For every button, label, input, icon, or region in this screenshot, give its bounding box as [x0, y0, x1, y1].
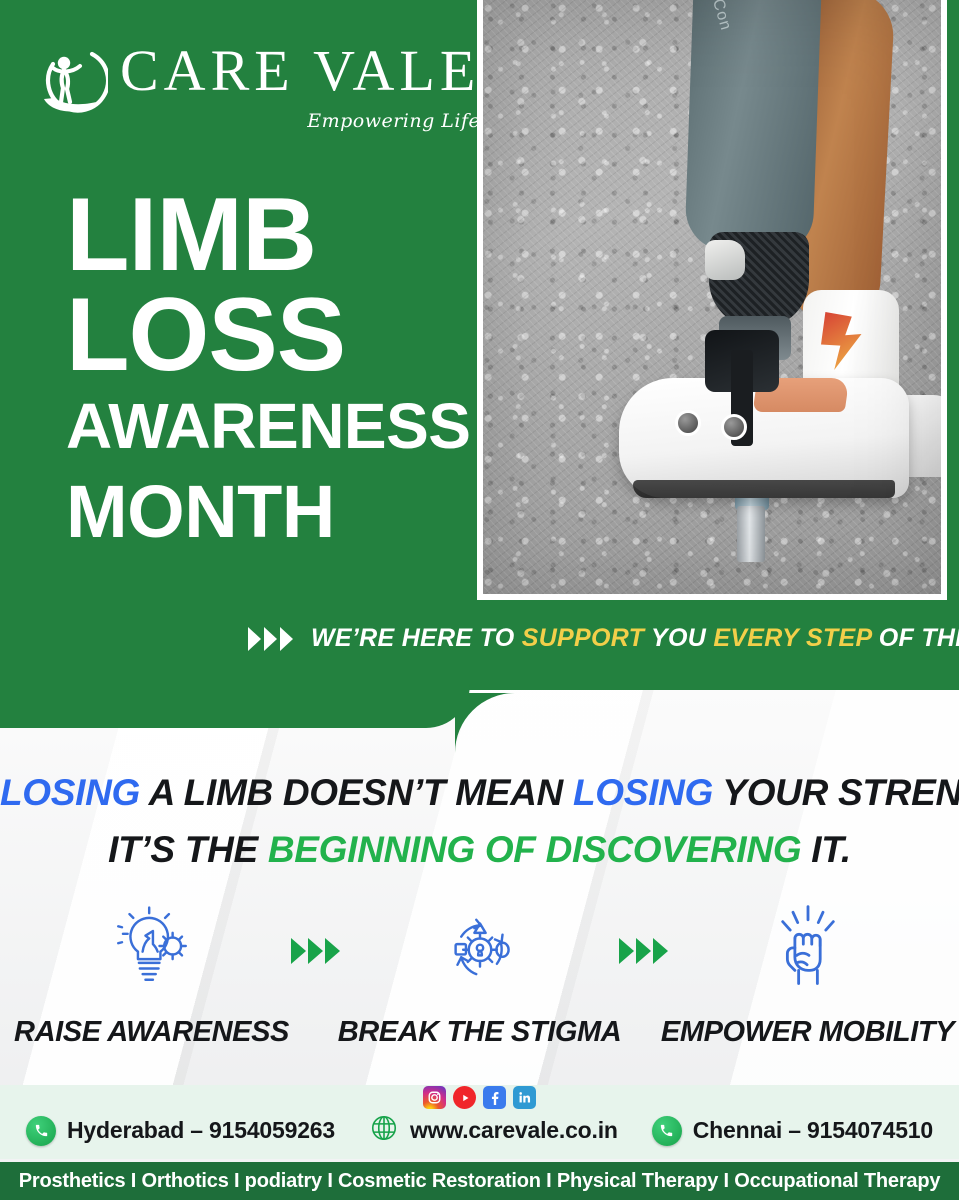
step-break-the-stigma: BREAK THE STIGMA: [355, 898, 605, 1049]
headline-text-4: IT.: [801, 829, 851, 870]
social-links: [0, 1086, 959, 1109]
contact-website-text: www.carevale.co.in: [410, 1117, 618, 1144]
phone-icon: [652, 1116, 682, 1146]
brand-name: CARE VALE: [120, 42, 480, 100]
headline-block: LOSING A LIMB DOESN’T MEAN LOSING YOUR S…: [0, 764, 959, 879]
contact-details: Hyderabad – 9154059263 www.carevale.co.i…: [0, 1113, 959, 1148]
support-part-3: OF THE WAY.: [872, 624, 959, 652]
photo-vignette: [483, 0, 941, 594]
contact-chennai[interactable]: Chennai – 9154074510: [652, 1116, 933, 1146]
triple-chevron-right-icon: [248, 627, 293, 651]
support-part-1: WE’RE HERE TO: [311, 624, 522, 652]
headline-losing-2: LOSING: [573, 772, 713, 813]
person-in-hand-circle-logo-icon: [36, 42, 108, 120]
facebook-icon[interactable]: [483, 1086, 506, 1109]
gear-cycle-process-icon: [435, 898, 525, 994]
headline-losing-1: LOSING: [0, 772, 140, 813]
instagram-icon[interactable]: [423, 1086, 446, 1109]
headline-line-1: LOSING A LIMB DOESN’T MEAN LOSING YOUR S…: [0, 764, 959, 821]
poster-canvas: CARE VALE Empowering Life LIMB LOSS AWAR…: [0, 0, 959, 1200]
hero-photo: Con: [477, 0, 947, 600]
step-separator-icon-1: [277, 938, 355, 964]
phone-icon: [26, 1116, 56, 1146]
contact-hyderabad-text: Hyderabad – 9154059263: [67, 1117, 335, 1144]
support-highlight-2: EVERY STEP: [713, 624, 871, 652]
step-label-2: BREAK THE STIGMA: [338, 1016, 622, 1049]
support-banner-text: WE’RE HERE TO SUPPORT YOU EVERY STEP OF …: [311, 624, 959, 653]
support-banner: WE’RE HERE TO SUPPORT YOU EVERY STEP OF …: [248, 624, 959, 653]
support-highlight-1: SUPPORT: [522, 624, 645, 652]
globe-icon: [369, 1113, 399, 1148]
step-empower-mobility: EMPOWER MOBILITY: [683, 898, 933, 1049]
services-bar-text: Prosthetics I Orthotics I podiatry I Cos…: [19, 1170, 941, 1193]
step-separator-icon-2: [605, 938, 683, 964]
prosthetic-leg-photo-illustration: Con: [483, 0, 941, 594]
lightbulb-gear-idea-icon: [107, 898, 197, 994]
contact-website[interactable]: www.carevale.co.in: [369, 1113, 618, 1148]
step-raise-awareness: RAISE AWARENESS: [27, 898, 277, 1049]
linkedin-icon[interactable]: [513, 1086, 536, 1109]
headline-beginning: BEGINNING OF DISCOVERING: [268, 829, 801, 870]
headline-text-3: IT’S THE: [108, 829, 268, 870]
step-label-1: RAISE AWARENESS: [14, 1016, 289, 1049]
contact-chennai-text: Chennai – 9154074510: [693, 1117, 933, 1144]
poster-title: LIMB LOSS AWARENESS MONTH: [66, 186, 470, 555]
raised-fist-power-icon: [763, 898, 853, 994]
headline-text-1: A LIMB DOESN’T MEAN: [140, 772, 573, 813]
headline-line-2: IT’S THE BEGINNING OF DISCOVERING IT.: [0, 821, 959, 878]
title-line-4: MONTH: [66, 468, 470, 555]
youtube-icon[interactable]: [453, 1086, 476, 1109]
brand-logo: CARE VALE Empowering Life: [36, 42, 480, 132]
title-line-3: AWARENESS: [66, 386, 470, 468]
headline-text-2: YOUR STRENGTH: [713, 772, 959, 813]
support-part-2: YOU: [644, 624, 713, 652]
services-bar: Prosthetics I Orthotics I podiatry I Cos…: [0, 1162, 959, 1200]
step-label-3: EMPOWER MOBILITY: [661, 1016, 954, 1049]
steps-row: RAISE AWARENESS BREAK THE STIGMA: [0, 898, 959, 1049]
title-line-2: LOSS: [66, 286, 470, 386]
hero-green-notch: [455, 693, 515, 753]
contact-hyderabad[interactable]: Hyderabad – 9154059263: [26, 1116, 335, 1146]
brand-tagline: Empowering Life: [120, 110, 480, 132]
title-line-1: LIMB: [66, 186, 470, 286]
